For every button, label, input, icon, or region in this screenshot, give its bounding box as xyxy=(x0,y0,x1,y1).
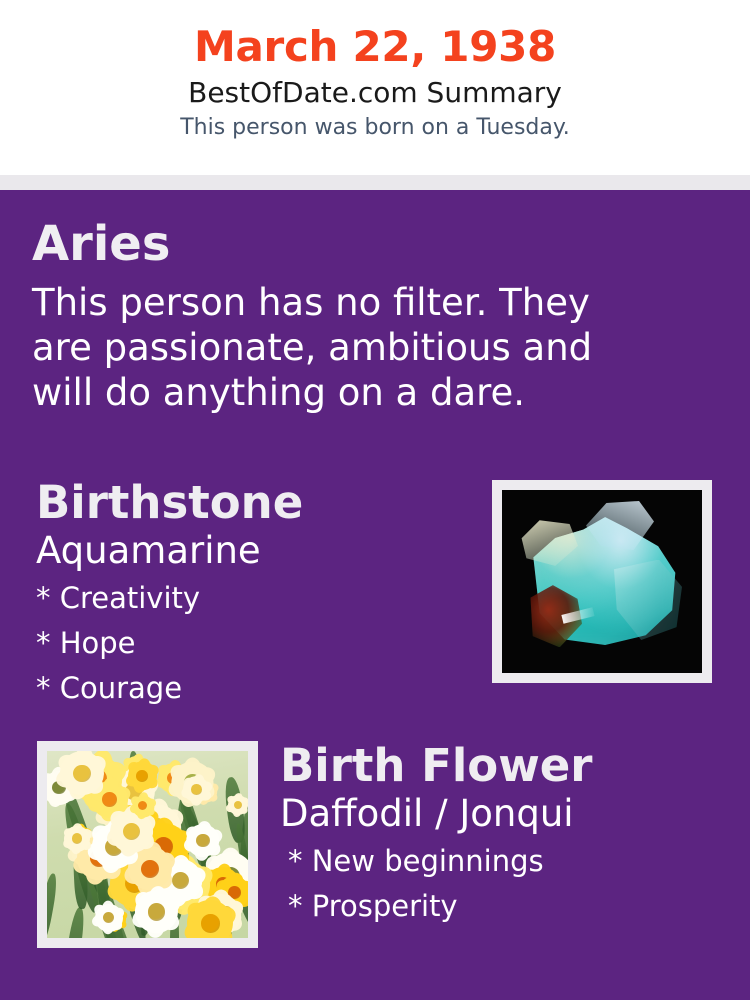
list-item: * Hope xyxy=(36,621,466,666)
birth-flower-image xyxy=(47,751,248,938)
birthstone-image xyxy=(502,490,702,673)
list-item: * Creativity xyxy=(36,576,466,621)
aquamarine-crystal-icon xyxy=(502,490,702,673)
daffodil-field-icon xyxy=(47,751,248,938)
born-weekday-text: This person was born on a Tuesday. xyxy=(180,114,570,142)
bestofdate-summary-card: March 22, 1938 BestOfDate.com Summary Th… xyxy=(0,0,750,1000)
daffodil-corona xyxy=(196,834,209,847)
purple-content-panel: Aries This person has no filter. They ar… xyxy=(0,190,750,1000)
birth-flower-block: Birth Flower Daffodil / Jonqui * New beg… xyxy=(280,741,730,929)
birthstone-traits-list: * Creativity * Hope * Courage xyxy=(36,576,466,711)
list-item: * Prosperity xyxy=(288,884,730,929)
daffodil-corona xyxy=(123,823,140,840)
zodiac-description: This person has no filter. They are pass… xyxy=(32,280,652,415)
list-item: * New beginnings xyxy=(288,839,730,884)
birthstone-image-frame xyxy=(492,480,712,683)
daffodil-corona xyxy=(73,765,91,783)
site-summary-label: BestOfDate.com Summary xyxy=(188,76,562,110)
birth-flower-name: Daffodil / Jonqui xyxy=(280,793,730,835)
daffodil-corona xyxy=(136,770,148,782)
daffodil-corona xyxy=(191,784,202,795)
zodiac-block: Aries This person has no filter. They ar… xyxy=(32,218,692,415)
daffodil-corona xyxy=(72,833,82,843)
daffodil-corona xyxy=(148,903,165,920)
daffodil-corona xyxy=(201,914,219,932)
daffodil-corona xyxy=(234,801,242,809)
page-title: March 22, 1938 xyxy=(194,24,556,70)
header-divider xyxy=(0,175,750,190)
daffodil-corona xyxy=(141,860,159,878)
birth-flower-traits-list: * New beginnings * Prosperity xyxy=(288,839,730,929)
zodiac-sign-name: Aries xyxy=(32,218,692,270)
list-item: * Courage xyxy=(36,666,466,711)
birthstone-title: Birthstone xyxy=(36,478,466,528)
birth-flower-image-frame xyxy=(37,741,258,948)
leaf-shape xyxy=(63,906,87,938)
daffodil-corona xyxy=(102,792,117,807)
leaf-shape xyxy=(47,873,59,938)
birthstone-block: Birthstone Aquamarine * Creativity * Hop… xyxy=(36,478,466,711)
card-header: March 22, 1938 BestOfDate.com Summary Th… xyxy=(0,0,750,175)
birthstone-name: Aquamarine xyxy=(36,530,466,572)
birth-flower-title: Birth Flower xyxy=(280,741,730,791)
